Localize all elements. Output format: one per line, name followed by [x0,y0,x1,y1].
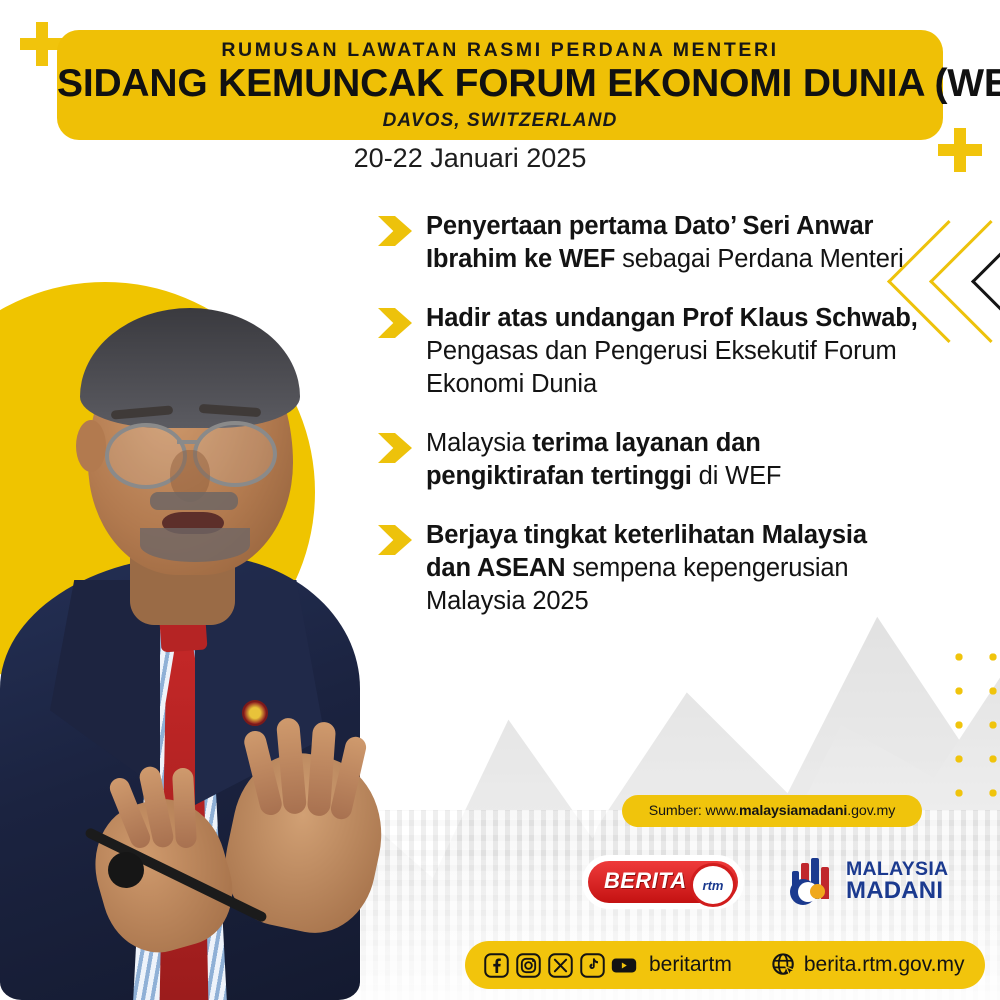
bullet-item: Hadir atas undangan Prof Klaus Schwab, P… [378,302,918,401]
infographic-poster: RUMUSAN LAWATAN RASMI PERDANA MENTERI SI… [0,0,1000,1000]
event-date: 20-22 Januari 2025 [30,143,910,174]
rtm-roundel-icon: rtm [690,863,736,907]
source-pill: Sumber: www.malaysiamadani.gov.my [622,795,922,827]
chevron-bullet-icon [378,308,412,338]
header-banner: RUMUSAN LAWATAN RASMI PERDANA MENTERI SI… [57,30,943,140]
plus-decoration-icon [938,128,982,172]
source-prefix: Sumber: www. [649,803,739,819]
chevron-bullet-icon [378,216,412,246]
tiktok-icon[interactable] [579,952,605,978]
social-icon-group [483,952,637,978]
globe-cursor-icon [770,951,798,979]
social-footer-bar: beritartm berita.rtm.gov.my [465,941,985,989]
youtube-icon[interactable] [611,952,637,978]
madani-line-2: MADANI [846,879,948,902]
website-link[interactable]: berita.rtm.gov.my [770,951,965,979]
bullet-text: Malaysia terima layanan dan pengiktirafa… [426,427,918,493]
facebook-icon[interactable] [483,952,509,978]
chevron-bullet-icon [378,525,412,555]
source-suffix: .gov.my [847,803,895,819]
header-kicker: RUMUSAN LAWATAN RASMI PERDANA MENTERI [57,39,943,62]
bullet-list: Penyertaan pertama Dato’ Seri Anwar Ibra… [378,210,918,644]
bullet-item: Malaysia terima layanan dan pengiktirafa… [378,427,918,493]
lapel-pin-icon [242,700,268,726]
dot-grid-decoration [938,636,1000,816]
anwar-ibrahim-portrait [0,300,410,1000]
bullet-item: Penyertaan pertama Dato’ Seri Anwar Ibra… [378,210,918,276]
x-icon[interactable] [547,952,573,978]
malaysia-madani-logo: MALAYSIA MADANI [786,852,948,910]
website-url: berita.rtm.gov.my [804,953,965,977]
chevron-bullet-icon [378,433,412,463]
bullet-text: Hadir atas undangan Prof Klaus Schwab, P… [426,302,918,401]
berita-wordmark: BERITA [604,868,687,894]
madani-mark-icon [786,855,838,907]
berita-rtm-logo: BERITA rtm [584,857,742,907]
header-location: DAVOS, SWITZERLAND [57,110,943,132]
social-handle[interactable]: beritartm [649,953,732,977]
page-title: SIDANG KEMUNCAK FORUM EKONOMI DUNIA (WEF… [57,62,943,106]
rtm-wordmark: rtm [703,878,724,893]
bullet-text: Penyertaan pertama Dato’ Seri Anwar Ibra… [426,210,918,276]
bullet-item: Berjaya tingkat keterlihatan Malaysia da… [378,519,918,618]
source-strong: malaysiamadani [739,803,847,819]
instagram-icon[interactable] [515,952,541,978]
bullet-text: Berjaya tingkat keterlihatan Malaysia da… [426,519,918,618]
